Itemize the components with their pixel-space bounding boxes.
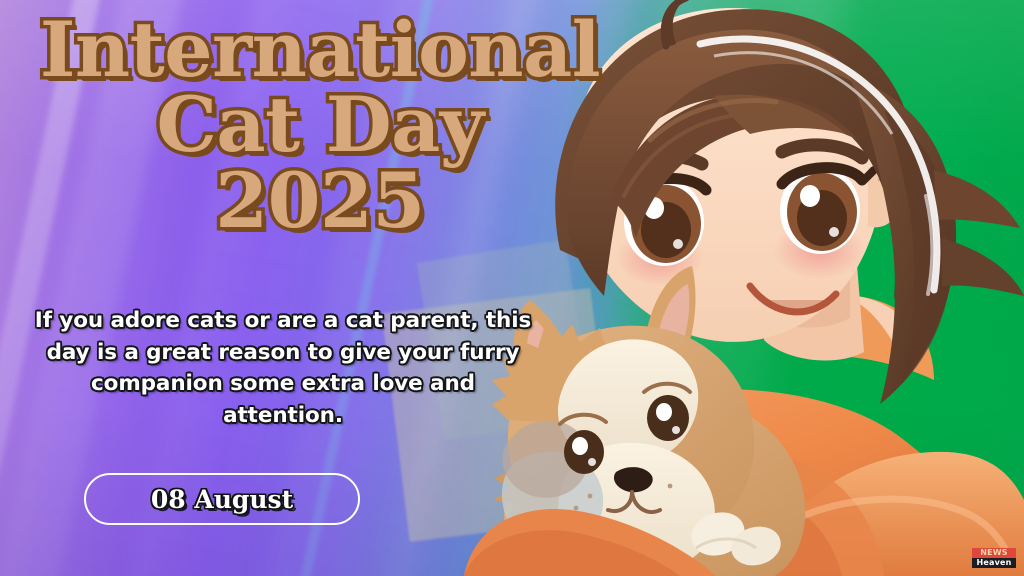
date-badge-label: 08 August bbox=[151, 485, 293, 514]
title-line-2: Cat Day bbox=[0, 89, 640, 160]
poster-description: If you adore cats or are a cat parent, t… bbox=[28, 305, 538, 431]
watermark-logo: NEWS Heaven bbox=[972, 548, 1016, 568]
poster-canvas: International Cat Day 2025 If you adore … bbox=[0, 0, 1024, 576]
title-line-1: International bbox=[0, 14, 640, 85]
watermark-top-label: NEWS bbox=[972, 548, 1016, 558]
watermark-bottom-label: Heaven bbox=[972, 558, 1016, 568]
title-line-3: 2025 bbox=[0, 165, 640, 236]
date-badge[interactable]: 08 August bbox=[84, 473, 360, 525]
poster-title: International Cat Day 2025 bbox=[0, 14, 640, 236]
